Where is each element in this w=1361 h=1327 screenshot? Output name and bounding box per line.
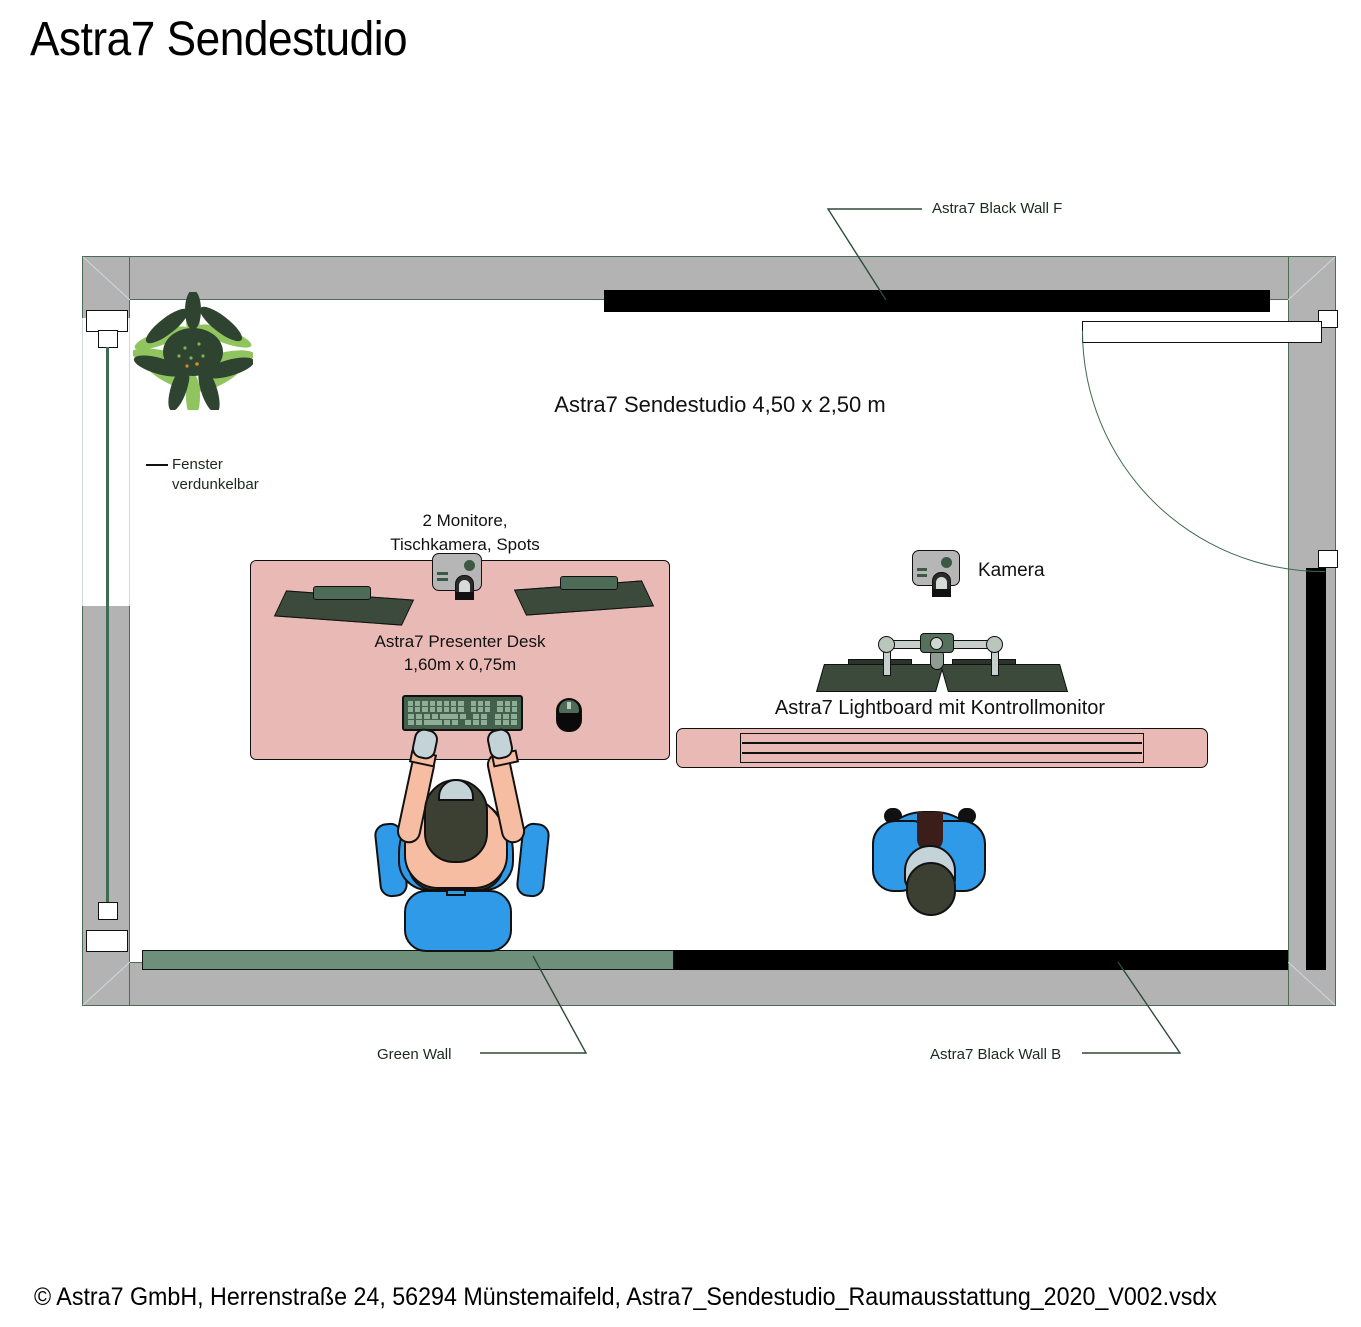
chair-seat bbox=[404, 890, 512, 952]
callout-window: Fenster verdunkelbar bbox=[172, 455, 312, 495]
room-dimension-caption: Astra7 Sendestudio 4,50 x 2,50 m bbox=[430, 392, 1010, 418]
black-wall-b-surface-east bbox=[1306, 568, 1326, 970]
lightboard-rail-line bbox=[742, 742, 1142, 744]
mouse-scroll-wheel bbox=[567, 702, 571, 709]
floor-plan-canvas: Astra7 Sendestudio 4,50 x 2,50 m 2 Monit… bbox=[0, 0, 1361, 1327]
keyboard-row bbox=[408, 714, 517, 719]
window-sill-top bbox=[86, 310, 128, 332]
lightboard-glass-area bbox=[740, 733, 1144, 763]
control-monitor-left bbox=[816, 664, 944, 692]
callout-black-wall-b: Astra7 Black Wall B bbox=[930, 1046, 1061, 1063]
monitor-arm-hub-center bbox=[930, 637, 943, 650]
black-wall-b-surface bbox=[672, 950, 1288, 970]
desk-dimensions-text: 1,60m x 0,75m bbox=[250, 653, 670, 676]
camera-dial-icon bbox=[941, 557, 952, 568]
window-pane bbox=[106, 347, 109, 904]
window-knob-bottom bbox=[98, 902, 118, 920]
desk-monitor-left-base bbox=[313, 586, 371, 600]
keyboard-row bbox=[408, 720, 517, 725]
camera-foot bbox=[932, 589, 951, 597]
monitor-arm-drop bbox=[930, 652, 944, 670]
monitor-arm-post-left bbox=[883, 650, 891, 676]
potted-palm-plant bbox=[133, 292, 253, 410]
tischkamera-vents bbox=[437, 572, 448, 584]
keyboard[interactable] bbox=[402, 695, 523, 731]
monitor-arm-post-right bbox=[991, 650, 999, 676]
keyboard-row bbox=[408, 701, 517, 706]
window-sill-bottom bbox=[86, 930, 128, 952]
window-knob-top bbox=[98, 330, 118, 348]
window-callout-dash-icon bbox=[146, 464, 168, 466]
desk-name-label: Astra7 Presenter Desk 1,60m x 0,75m bbox=[250, 630, 670, 676]
callout-window-line-1: Fenster bbox=[172, 455, 312, 475]
camera-vents bbox=[917, 568, 927, 580]
lightboard-rail-line bbox=[742, 752, 1142, 754]
desk-monitor-right-base bbox=[560, 576, 618, 590]
copyright-footer: © Astra7 GmbH, Herrenstraße 24, 56294 Mü… bbox=[34, 1283, 1217, 1312]
lightboard-label: Astra7 Lightboard mit Kontrollmonitor bbox=[690, 697, 1190, 720]
monitor-arm-joint-right bbox=[986, 636, 1003, 653]
tischkamera-dial-icon bbox=[464, 560, 475, 571]
control-monitor-right bbox=[940, 664, 1068, 692]
keyboard-row bbox=[408, 707, 517, 712]
monitor-arm-joint-left bbox=[878, 636, 895, 653]
guest-head bbox=[906, 862, 956, 916]
black-wall-f-surface bbox=[604, 290, 1270, 312]
desk-equipment-line-1: 2 Monitore, bbox=[340, 509, 590, 533]
green-wall-surface bbox=[142, 950, 674, 970]
desk-equipment-label: 2 Monitore, Tischkamera, Spots bbox=[340, 509, 590, 557]
callout-green-wall: Green Wall bbox=[377, 1046, 451, 1063]
desk-name-text: Astra7 Presenter Desk bbox=[250, 630, 670, 653]
callout-black-wall-f: Astra7 Black Wall F bbox=[932, 200, 1062, 217]
tischkamera-foot bbox=[455, 592, 474, 600]
callout-window-line-2: verdunkelbar bbox=[172, 475, 312, 495]
camera-label: Kamera bbox=[978, 560, 1045, 582]
